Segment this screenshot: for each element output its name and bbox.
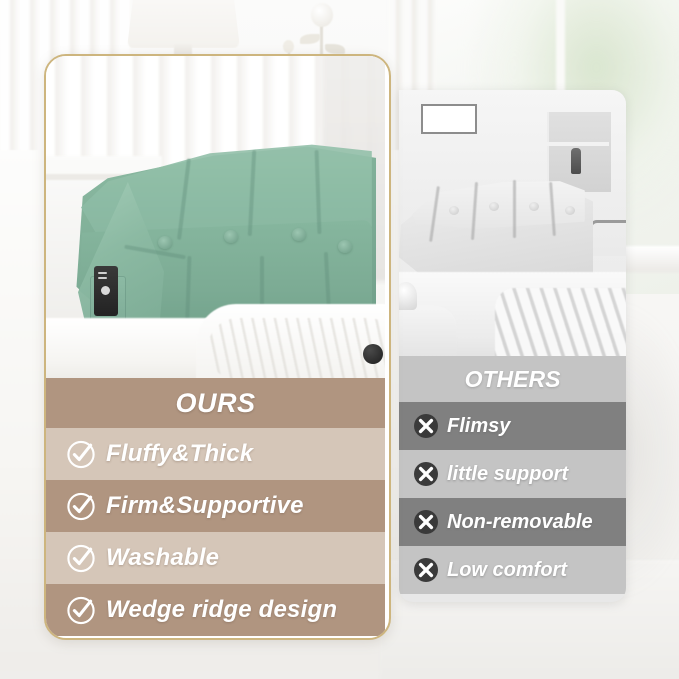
flower-bloom: [311, 3, 333, 27]
others-photo-nightstand: [399, 306, 457, 356]
others-feature-label: Flimsy: [447, 415, 510, 438]
others-photo-shelf: [547, 142, 609, 146]
others-pillow-tuft: [489, 202, 499, 211]
check-circle-icon: [66, 439, 96, 469]
table-lamp-shade: [127, 0, 240, 48]
ours-product-photo: [46, 56, 385, 378]
x-circle-icon: [413, 461, 439, 487]
x-circle-icon: [413, 413, 439, 439]
x-circle-icon: [413, 509, 439, 535]
others-pillow-seam: [513, 180, 516, 238]
others-feature-label: little support: [447, 463, 568, 486]
others-pillow-tuft: [565, 206, 575, 215]
others-comparison-card: OTHERS Flimsy little s: [399, 90, 626, 602]
others-photo-small-lamp: [399, 282, 417, 310]
others-feature-label: Non-removable: [447, 511, 593, 534]
ours-feature-row: Wedge ridge design: [46, 584, 385, 636]
others-feature-label: Low comfort: [447, 559, 567, 582]
ours-photo-duvet-folds: [208, 318, 385, 378]
check-circle-icon: [66, 491, 96, 521]
ours-feature-row: Firm&Supportive: [46, 480, 385, 532]
comparison-infographic: OTHERS Flimsy little s: [0, 0, 679, 679]
wedge-pillow-tuft-button: [292, 228, 306, 241]
others-photo-vase: [571, 148, 581, 174]
others-feature-row: little support: [399, 450, 626, 498]
x-circle-icon: [413, 557, 439, 583]
ours-feature-label: Wedge ridge design: [106, 596, 337, 624]
check-circle-icon: [66, 543, 96, 573]
ours-feature-label: Fluffy&Thick: [106, 440, 253, 468]
others-photo-wall-art: [421, 104, 477, 134]
others-feature-table: OTHERS Flimsy little s: [399, 356, 626, 594]
ours-comparison-card: OURS Fluffy&Thick Firm: [44, 54, 391, 640]
ours-feature-label: Washable: [106, 544, 219, 572]
others-feature-row: Low comfort: [399, 546, 626, 594]
ours-feature-table: OURS Fluffy&Thick Firm: [46, 378, 385, 636]
others-header-row: OTHERS: [399, 356, 626, 402]
ours-feature-row: Fluffy&Thick: [46, 428, 385, 480]
ours-feature-label: Firm&Supportive: [106, 492, 304, 520]
others-pillow-tuft: [529, 202, 539, 211]
ours-feature-row: Washable: [46, 532, 385, 584]
flower-bud: [283, 40, 294, 53]
wedge-pillow-tuft-button: [224, 230, 238, 243]
ours-header-label: OURS: [175, 388, 255, 419]
others-photo-throw-blanket: [495, 288, 626, 356]
others-feature-row: Non-removable: [399, 498, 626, 546]
remote-control: [94, 266, 118, 316]
others-feature-row: Flimsy: [399, 402, 626, 450]
ours-header-row: OURS: [46, 378, 385, 428]
others-product-photo: [399, 90, 626, 356]
check-circle-icon: [66, 595, 96, 625]
others-header-label: OTHERS: [465, 366, 561, 393]
others-pillow-tuft: [449, 206, 459, 215]
wedge-pillow-tuft-button: [158, 236, 172, 249]
ours-photo-dark-object: [363, 344, 383, 364]
wedge-pillow-tuft-button: [338, 240, 352, 253]
